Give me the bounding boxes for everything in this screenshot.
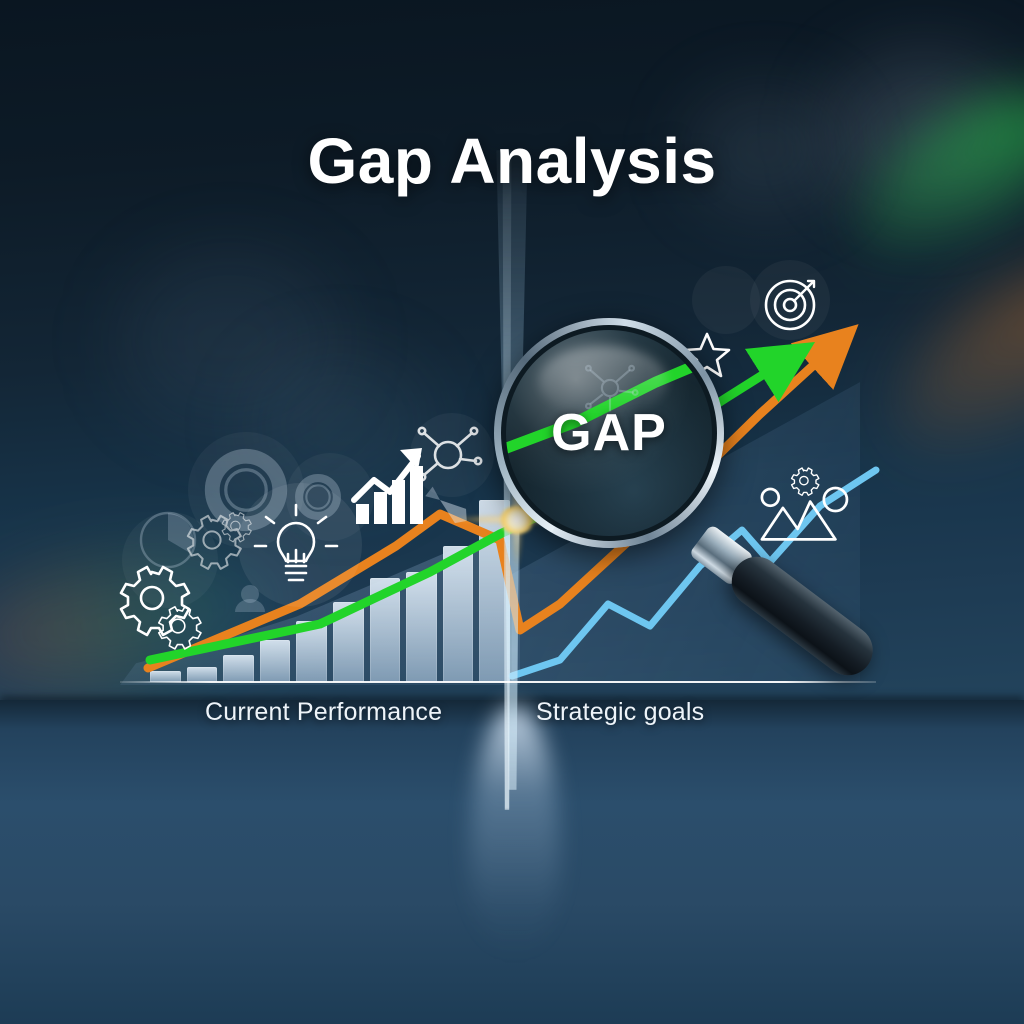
- performance-bar-chart: [150, 500, 510, 682]
- caption-strategic-goals: Strategic goals: [536, 698, 704, 727]
- bar-7: [370, 578, 401, 682]
- bar-5: [296, 621, 327, 682]
- magnifier-lens[interactable]: GAP: [494, 318, 724, 548]
- bar-4: [260, 640, 291, 682]
- bar-9: [443, 546, 474, 683]
- caption-current-performance: Current Performance: [205, 698, 442, 727]
- bar-3: [223, 655, 254, 682]
- gap-lens-label: GAP: [506, 330, 712, 536]
- page-title: Gap Analysis: [0, 124, 1024, 198]
- bar-6: [333, 602, 364, 682]
- infographic-canvas: GAP Gap Analysis Current Performance Str…: [0, 0, 1024, 1024]
- baseline-axis: [120, 681, 876, 683]
- bar-8: [406, 572, 437, 682]
- lens-glass: GAP: [506, 330, 712, 536]
- bar-2: [187, 667, 218, 682]
